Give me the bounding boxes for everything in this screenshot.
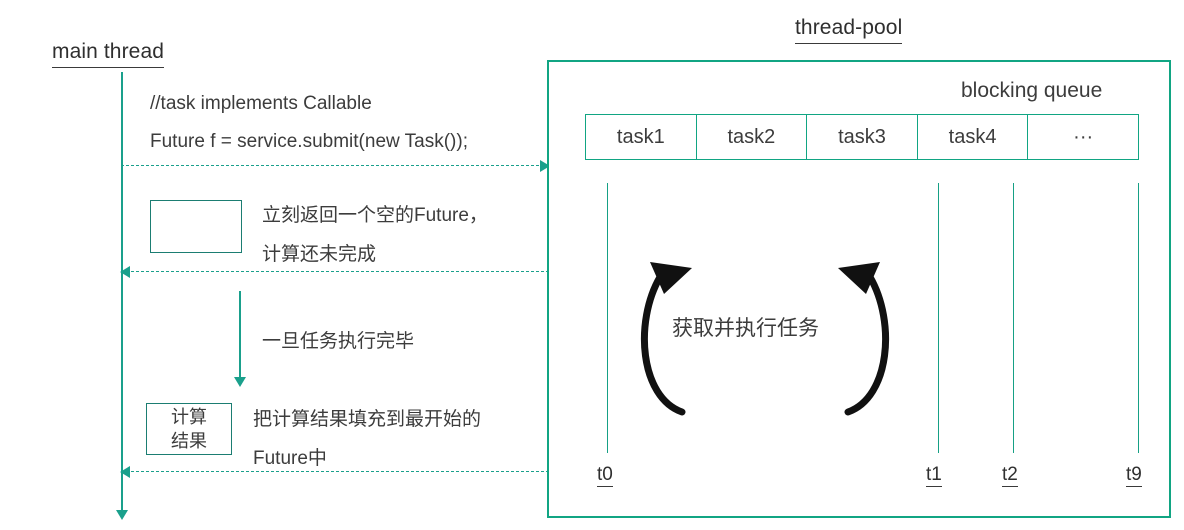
thread-pool-title: thread-pool bbox=[795, 16, 902, 44]
queue-cell[interactable]: task3 bbox=[807, 115, 918, 159]
submit-message-arrow bbox=[121, 160, 549, 172]
diagram-canvas: main thread //task implements Callable F… bbox=[0, 0, 1184, 530]
main-thread-lifeline-arrowhead bbox=[116, 510, 128, 520]
task-complete-arrow-line bbox=[239, 291, 241, 379]
thread-label-t0: t0 bbox=[597, 465, 613, 487]
thread-lifeline-t2 bbox=[1013, 183, 1014, 453]
main-thread-title: main thread bbox=[52, 40, 164, 68]
computation-result-box: 计算 结果 bbox=[146, 403, 232, 455]
submit-arrow-line bbox=[121, 165, 549, 166]
queue-cell[interactable]: task1 bbox=[586, 115, 697, 159]
task-complete-arrow-head-icon bbox=[234, 377, 246, 387]
return-future-message-arrow bbox=[121, 266, 549, 278]
blocking-queue-label: blocking queue bbox=[961, 79, 1102, 103]
cycle-label: 获取并执行任务 bbox=[672, 312, 819, 342]
code-comment: //task implements Callable bbox=[150, 93, 372, 115]
main-thread-lifeline bbox=[121, 72, 123, 512]
blocking-queue: task1 task2 task3 task4 ··· bbox=[585, 114, 1139, 160]
empty-future-box bbox=[150, 200, 242, 253]
return-future-arrow-line bbox=[121, 271, 549, 272]
queue-cell[interactable]: task2 bbox=[697, 115, 808, 159]
result-filled-message-arrow bbox=[121, 466, 549, 478]
thread-label-t1: t1 bbox=[926, 465, 942, 487]
thread-label-t2: t2 bbox=[1002, 465, 1018, 487]
result-filled-arrow-line bbox=[121, 471, 549, 472]
result-box-line2: 结果 bbox=[171, 429, 207, 453]
thread-label-t9: t9 bbox=[1126, 465, 1142, 487]
return-future-arrow-head-icon bbox=[120, 266, 130, 278]
note-fill-result-line1: 把计算结果填充到最开始的 bbox=[253, 405, 481, 435]
thread-lifeline-t1 bbox=[938, 183, 939, 453]
code-statement: Future f = service.submit(new Task()); bbox=[150, 131, 468, 153]
result-box-line1: 计算 bbox=[171, 405, 207, 429]
result-filled-arrow-head-icon bbox=[120, 466, 130, 478]
note-immediate-return-line1: 立刻返回一个空的Future， bbox=[262, 201, 488, 231]
queue-cell[interactable]: task4 bbox=[918, 115, 1029, 159]
thread-lifeline-t0 bbox=[607, 183, 608, 453]
note-once-task-done: 一旦任务执行完毕 bbox=[262, 327, 414, 357]
queue-cell-ellipsis: ··· bbox=[1028, 115, 1138, 159]
thread-lifeline-t9 bbox=[1138, 183, 1139, 453]
